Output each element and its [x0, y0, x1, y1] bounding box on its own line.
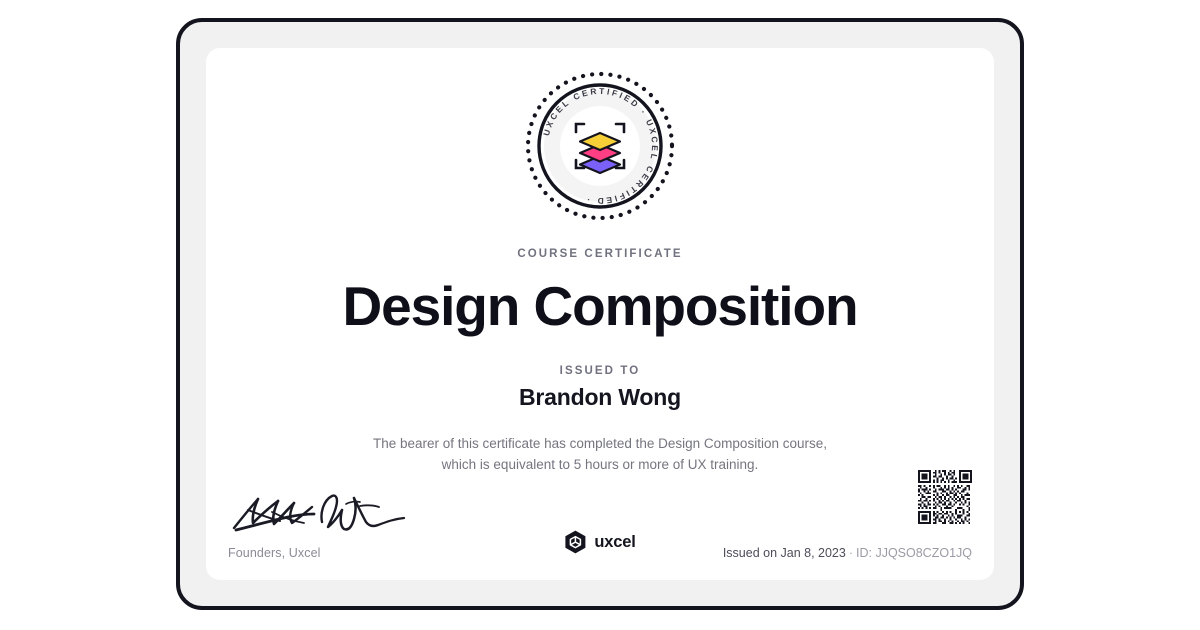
- layers-logo: [580, 133, 620, 173]
- signature-block: Founders, Uxcel: [228, 488, 458, 560]
- seal-graphic: UXCEL CERTIFIED · UXCEL CERTIFIED ·: [522, 68, 678, 224]
- course-certificate-kicker: COURSE CERTIFICATE: [206, 248, 994, 260]
- issued-to-label: ISSUED TO: [206, 365, 994, 377]
- course-title: Design Composition: [206, 274, 994, 338]
- uxcel-brand: uxcel: [564, 530, 635, 554]
- certificate-meta: Issued on Jan 8, 2023·ID: JJQSO8CZO1JQ: [723, 546, 972, 560]
- issued-on-date: Issued on Jan 8, 2023: [723, 546, 846, 560]
- certificate-page: UXCEL CERTIFIED · UXCEL CERTIFIED ·: [0, 0, 1200, 630]
- certificate-panel: UXCEL CERTIFIED · UXCEL CERTIFIED ·: [206, 48, 994, 580]
- body-line-2: which is equivalent to 5 hours or more o…: [296, 455, 904, 476]
- uxcel-certified-seal: UXCEL CERTIFIED · UXCEL CERTIFIED ·: [522, 68, 678, 224]
- signature-one: [234, 499, 314, 530]
- body-line-1: The bearer of this certificate has compl…: [296, 434, 904, 455]
- uxcel-cube-icon: [564, 530, 586, 554]
- meta-line: Issued on Jan 8, 2023·ID: JJQSO8CZO1JQ: [723, 546, 972, 560]
- certificate-body-text: The bearer of this certificate has compl…: [296, 434, 904, 475]
- founders-signatures: [228, 488, 414, 540]
- qr-code-graphic[interactable]: [918, 470, 972, 524]
- meta-separator: ·: [849, 546, 853, 560]
- certificate-frame: UXCEL CERTIFIED · UXCEL CERTIFIED ·: [176, 18, 1024, 610]
- signature-two: [321, 496, 404, 530]
- signature-caption: Founders, Uxcel: [228, 546, 458, 560]
- certificate-qr-code[interactable]: [918, 470, 972, 524]
- recipient-name: Brandon Wong: [206, 384, 994, 411]
- uxcel-wordmark: uxcel: [594, 533, 635, 552]
- certificate-id: ID: JJQSO8CZO1JQ: [856, 546, 972, 560]
